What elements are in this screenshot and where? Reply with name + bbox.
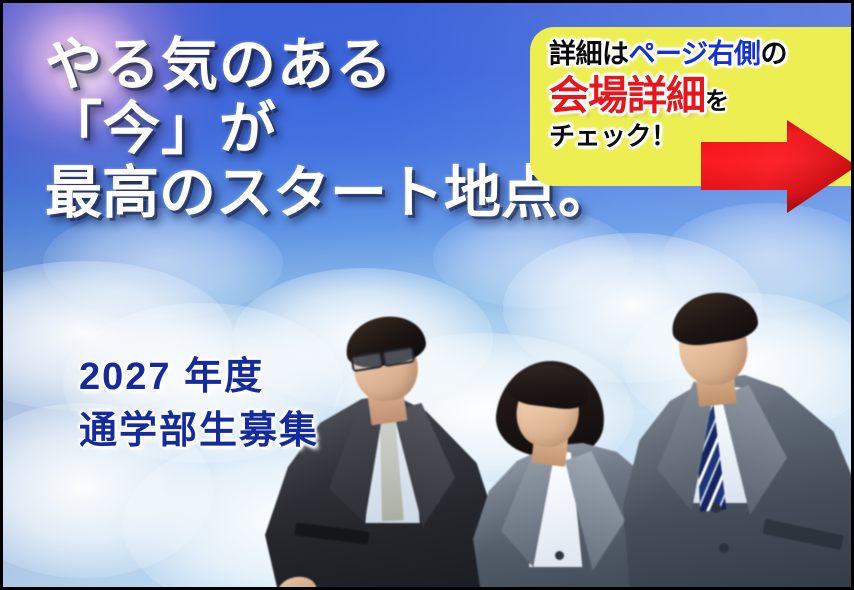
jacket-button [719, 543, 729, 553]
headline-line-2: 「今」が [45, 101, 565, 159]
headline: やる気のある 「今」が 最高のスタート地点。 [45, 37, 565, 229]
subcopy-program: 通学部生募集 [79, 405, 319, 459]
callout-line-1-part-2: ページ右側 [629, 39, 761, 69]
callout-line-2: 会場詳細を [549, 76, 849, 116]
jacket-button [555, 551, 564, 560]
subcopy: 2027 年度 通学部生募集 [79, 351, 319, 459]
person-right-man [623, 289, 854, 590]
headline-line-1: やる気のある [45, 37, 565, 95]
callout-line-2-highlight: 会場詳細 [549, 74, 705, 118]
callout-line-2-particle: を [705, 88, 729, 115]
recruitment-banner: やる気のある 「今」が 最高のスタート地点。 2027 年度 通学部生募集 詳細… [0, 0, 854, 590]
callout-line-1: 詳細はページ右側の [549, 41, 849, 68]
right-arrow-icon [701, 120, 854, 213]
headline-line-3: 最高のスタート地点。 [45, 165, 565, 223]
callout-line-3-text: チェック！ [549, 121, 677, 151]
callout-line-1-part-1: 詳細は [549, 39, 629, 69]
callout-line-1-part-3: の [760, 39, 787, 69]
subcopy-year: 2027 年度 [79, 351, 319, 405]
jacket-button [711, 503, 721, 513]
